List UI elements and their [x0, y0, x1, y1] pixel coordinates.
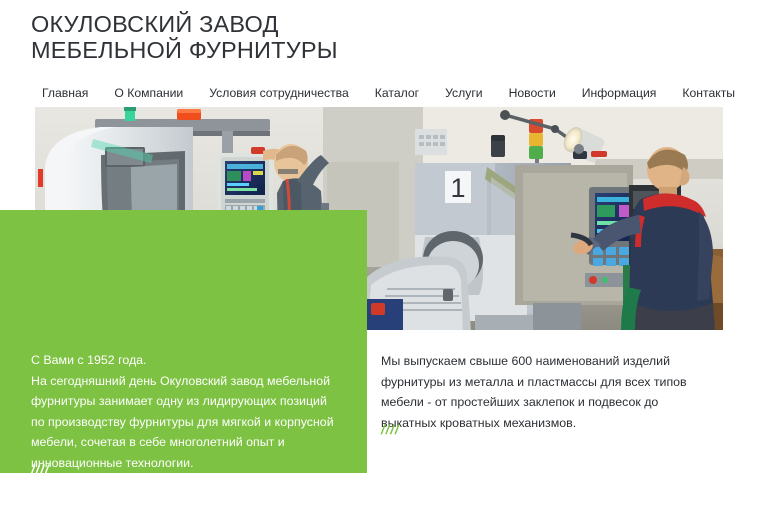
nav-item-katalog[interactable]: Каталог	[375, 86, 419, 100]
nav-item-o-kompanii[interactable]: О Компании	[114, 86, 183, 100]
nav-item-kontakty[interactable]: Контакты	[682, 86, 735, 100]
nav-item-uslugi[interactable]: Услуги	[445, 86, 482, 100]
svg-text:1: 1	[450, 173, 465, 203]
nav-item-informaciya[interactable]: Информация	[582, 86, 657, 100]
intro-right-panel: Мы выпускаем свыше 600 наименований изде…	[367, 330, 768, 473]
green-panel-text: С Вами с 1952 года. На сегодняшний день …	[31, 350, 343, 473]
page-title: ОКУЛОВСКИЙ ЗАВОД МЕБЕЛЬНОЙ ФУРНИТУРЫ	[31, 11, 591, 63]
site-header: ОКУЛОВСКИЙ ЗАВОД МЕБЕЛЬНОЙ ФУРНИТУРЫ Гла…	[0, 0, 768, 107]
page-bottom-spacer	[0, 473, 768, 519]
green-panel-slashes-decoration: ////	[31, 462, 49, 477]
right-panel-slashes-decoration: ////	[381, 422, 399, 437]
right-panel-text: Мы выпускаем свыше 600 наименований изде…	[381, 351, 711, 433]
intro-green-panel: С Вами с 1952 года. На сегодняшний день …	[0, 210, 367, 473]
nav-item-novosti[interactable]: Новости	[509, 86, 556, 100]
nav-item-glavnaya[interactable]: Главная	[42, 86, 88, 100]
main-navigation: Главная О Компании Условия сотрудничеств…	[0, 79, 768, 107]
nav-item-usloviya[interactable]: Условия сотрудничества	[209, 86, 349, 100]
